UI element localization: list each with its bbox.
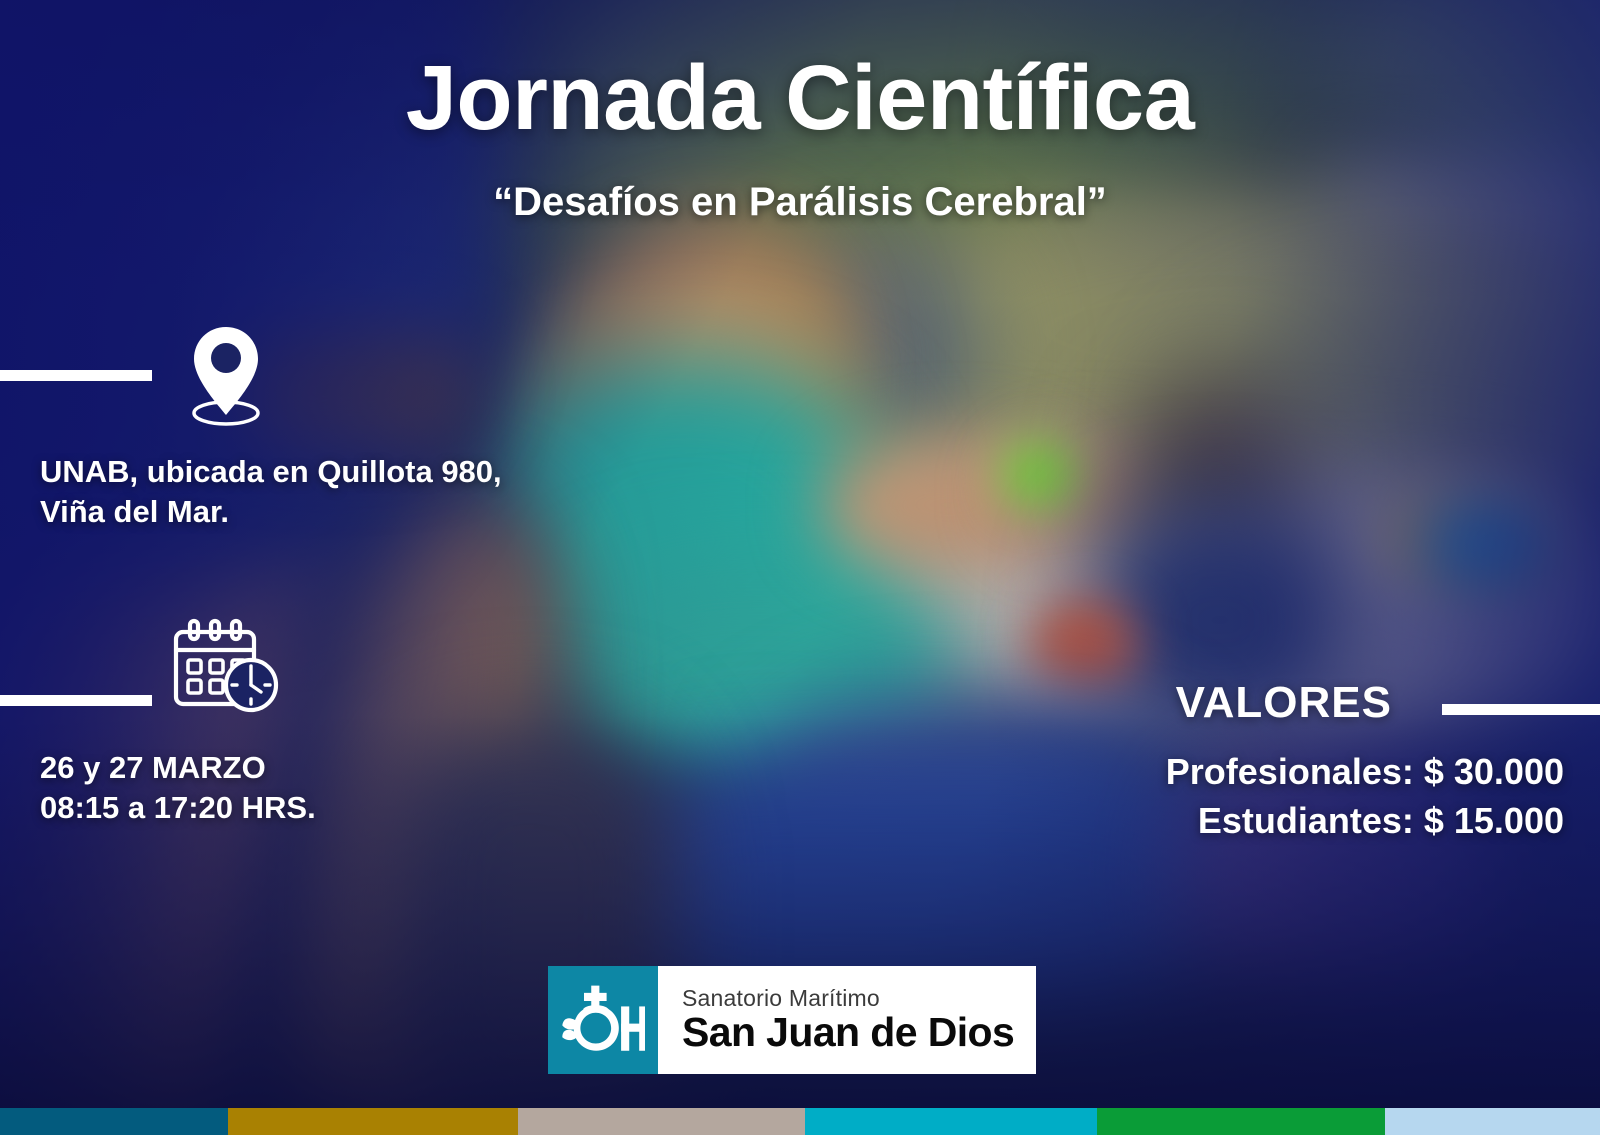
location-text: UNAB, ubicada en Quillota 980, Viña del …: [40, 452, 510, 531]
schedule-text: 26 y 27 MARZO 08:15 a 17:20 HRS.: [40, 748, 510, 827]
schedule-hours: 08:15 a 17:20 HRS.: [40, 788, 510, 828]
stripe-segment-3: [518, 1108, 805, 1135]
stripe-segment-6: [1385, 1108, 1600, 1135]
pricing-rule: [1442, 704, 1600, 715]
stripe-segment-5: [1097, 1108, 1385, 1135]
location-rule: [0, 370, 152, 381]
schedule-dates: 26 y 27 MARZO: [40, 748, 510, 788]
map-pin-icon: [178, 325, 274, 429]
calendar-clock-icon: [168, 618, 288, 718]
pricing-item-professionals: Profesionales: $ 30.000: [1166, 748, 1564, 797]
stripe-segment-4: [805, 1108, 1097, 1135]
page-subtitle: “Desafíos en Parálisis Cerebral”: [0, 180, 1600, 225]
event-poster: Jornada Científica “Desafíos en Parálisi…: [0, 0, 1600, 1135]
organization-logo: Sanatorio Marítimo San Juan de Dios: [548, 966, 1036, 1074]
pricing-list: Profesionales: $ 30.000 Estudiantes: $ 1…: [1166, 748, 1564, 845]
stripe-segment-1: [0, 1108, 228, 1135]
pricing-item-students: Estudiantes: $ 15.000: [1166, 797, 1564, 846]
pricing-heading: VALORES: [1176, 678, 1392, 728]
logo-line-top: Sanatorio Marítimo: [682, 986, 1036, 1010]
stripe-segment-2: [228, 1108, 518, 1135]
logo-mark-oh-icon: [548, 966, 658, 1074]
schedule-rule: [0, 695, 152, 706]
logo-line-bottom: San Juan de Dios: [682, 1010, 1036, 1054]
page-title: Jornada Científica: [0, 46, 1600, 151]
color-stripe: [0, 1108, 1600, 1135]
